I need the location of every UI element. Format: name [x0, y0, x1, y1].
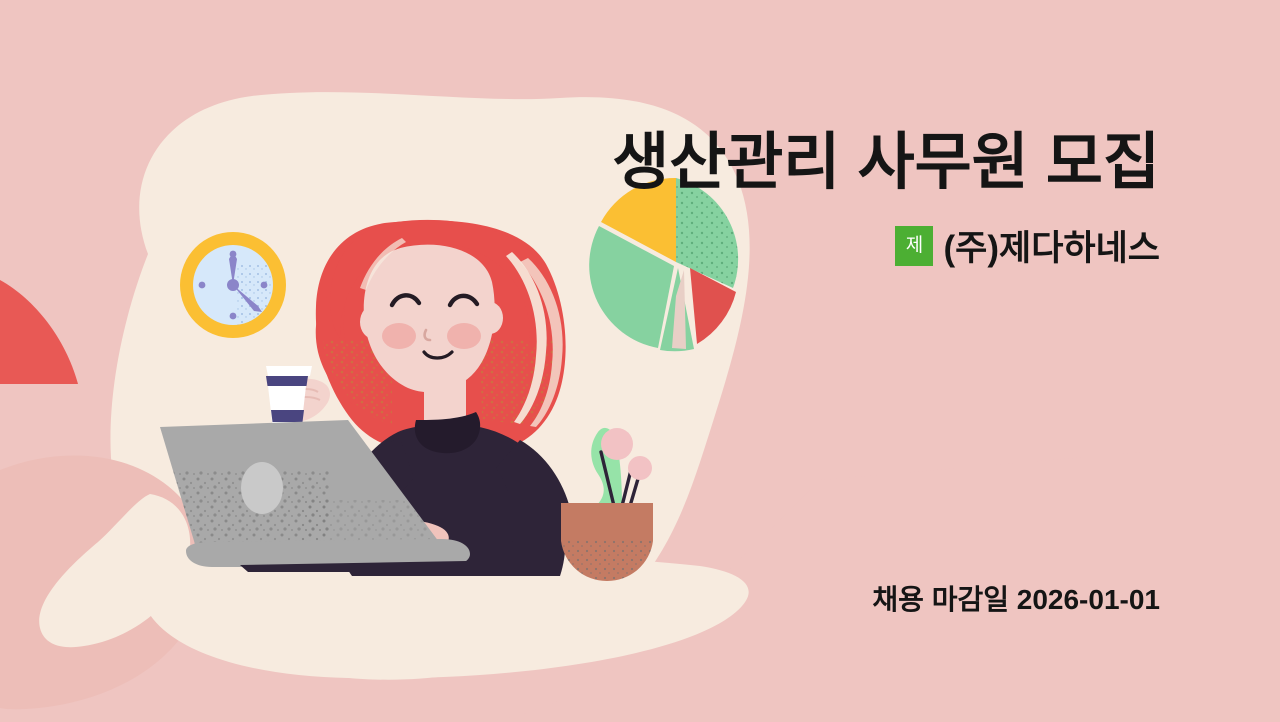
clock-center-pin	[227, 279, 239, 291]
clock-mark-6	[230, 313, 237, 320]
cheek-left	[382, 323, 416, 349]
plant-flower-small	[628, 456, 652, 480]
cheek-right	[447, 323, 481, 349]
clock-mark-9	[199, 282, 206, 289]
cup-body-band	[271, 410, 304, 422]
illustration-artwork	[0, 0, 1280, 722]
clock-mark-3	[261, 282, 268, 289]
plant-flower-large	[601, 428, 633, 460]
cup-lid-band	[266, 376, 308, 386]
ear-right	[477, 302, 503, 334]
laptop-logo	[241, 462, 283, 514]
job-posting-poster: 생산관리 사무원 모집 제 (주)제다하네스 채용 마감일 2026-01-01	[0, 0, 1280, 722]
cup-lid	[266, 366, 312, 376]
